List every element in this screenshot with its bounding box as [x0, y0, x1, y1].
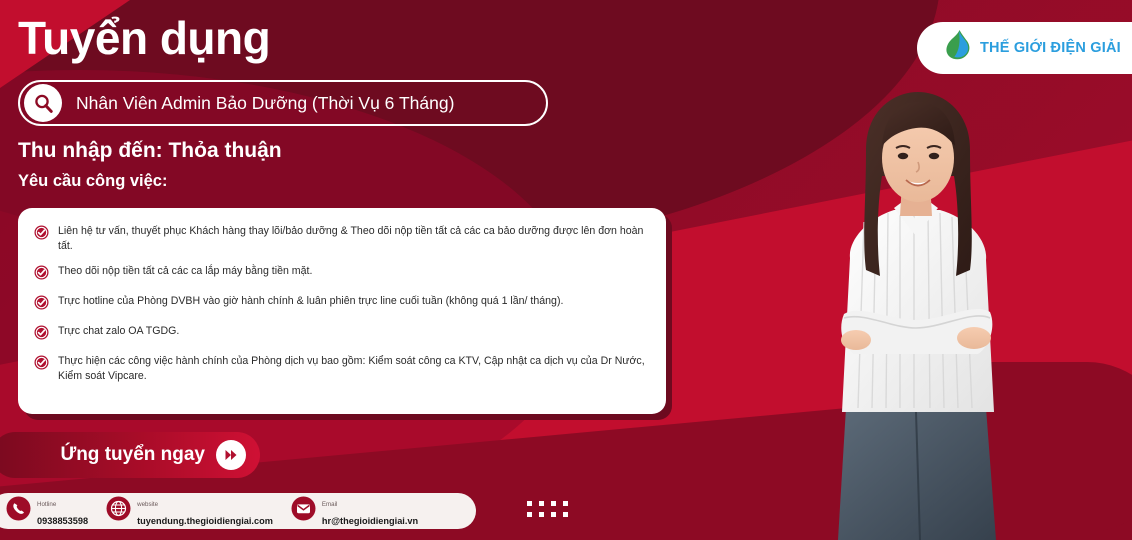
- contact-label: website: [137, 501, 158, 508]
- contact-label: Hotline: [37, 501, 56, 508]
- check-circle-icon: [34, 225, 49, 245]
- phone-icon: [6, 496, 31, 526]
- dot: [563, 501, 568, 506]
- dot: [563, 512, 568, 517]
- email-icon: [291, 496, 316, 526]
- requirement-text: Trực chat zalo OA TGDG.: [58, 324, 179, 339]
- contact-value: tuyendung.thegioidiengiai.com: [137, 516, 273, 526]
- job-title-search-field[interactable]: Nhân Viên Admin Bảo Dưỡng (Thời Vụ 6 Thá…: [18, 80, 548, 126]
- contact-hotline[interactable]: Hotline 0938853598: [6, 493, 88, 529]
- dot: [527, 512, 532, 517]
- requirement-text: Theo dõi nộp tiền tất cả các ca lắp máy …: [58, 264, 312, 279]
- contact-value: 0938853598: [37, 516, 88, 526]
- list-item: Trực chat zalo OA TGDG.: [34, 324, 648, 345]
- requirement-text: Thực hiện các công việc hành chính của P…: [58, 354, 648, 385]
- double-chevron-right-icon: [216, 440, 246, 470]
- dot: [527, 501, 532, 506]
- check-circle-icon: [34, 265, 49, 285]
- requirement-text: Trực hotline của Phòng DVBH vào giờ hành…: [58, 294, 563, 309]
- contact-value: hr@thegioidiengiai.vn: [322, 516, 418, 526]
- requirements-card: Liên hệ tư vấn, thuyết phục Khách hàng t…: [18, 208, 666, 414]
- list-item: Liên hệ tư vấn, thuyết phục Khách hàng t…: [34, 224, 648, 255]
- dot: [551, 501, 556, 506]
- contact-email[interactable]: Email hr@thegioidiengiai.vn: [291, 493, 418, 529]
- check-circle-icon: [34, 355, 49, 375]
- recruitment-banner: THẾ GIỚI ĐIỆN GIẢI: [0, 0, 1132, 540]
- water-drop-leaf-icon: [943, 30, 973, 67]
- contact-label: Email: [322, 501, 337, 508]
- search-icon: [24, 84, 62, 122]
- brand-logo-text: THẾ GIỚI ĐIỆN GIẢI: [980, 40, 1121, 56]
- dot: [551, 512, 556, 517]
- list-item: Thực hiện các công việc hành chính của P…: [34, 354, 648, 385]
- apply-now-button[interactable]: Ứng tuyển ngay: [0, 432, 260, 478]
- salary-text: Thu nhập đến: Thỏa thuận: [18, 139, 282, 163]
- page-title: Tuyển dụng: [18, 12, 270, 65]
- dot-grid-decoration: [527, 501, 569, 518]
- dot: [539, 512, 544, 517]
- contact-website[interactable]: website tuyendung.thegioidiengiai.com: [106, 493, 273, 529]
- recruiter-photo: [790, 90, 1058, 540]
- dot: [539, 501, 544, 506]
- globe-icon: [106, 496, 131, 526]
- requirements-heading: Yêu cầu công việc:: [18, 172, 167, 191]
- job-title-value: Nhân Viên Admin Bảo Dưỡng (Thời Vụ 6 Thá…: [76, 93, 454, 114]
- check-circle-icon: [34, 295, 49, 315]
- check-circle-icon: [34, 325, 49, 345]
- list-item: Theo dõi nộp tiền tất cả các ca lắp máy …: [34, 264, 648, 285]
- apply-now-label: Ứng tuyển ngay: [60, 444, 205, 466]
- list-item: Trực hotline của Phòng DVBH vào giờ hành…: [34, 294, 648, 315]
- requirement-text: Liên hệ tư vấn, thuyết phục Khách hàng t…: [58, 224, 648, 255]
- brand-logo[interactable]: THẾ GIỚI ĐIỆN GIẢI: [917, 22, 1132, 74]
- contact-bar: Hotline 0938853598 website tuyendung.the…: [0, 493, 476, 529]
